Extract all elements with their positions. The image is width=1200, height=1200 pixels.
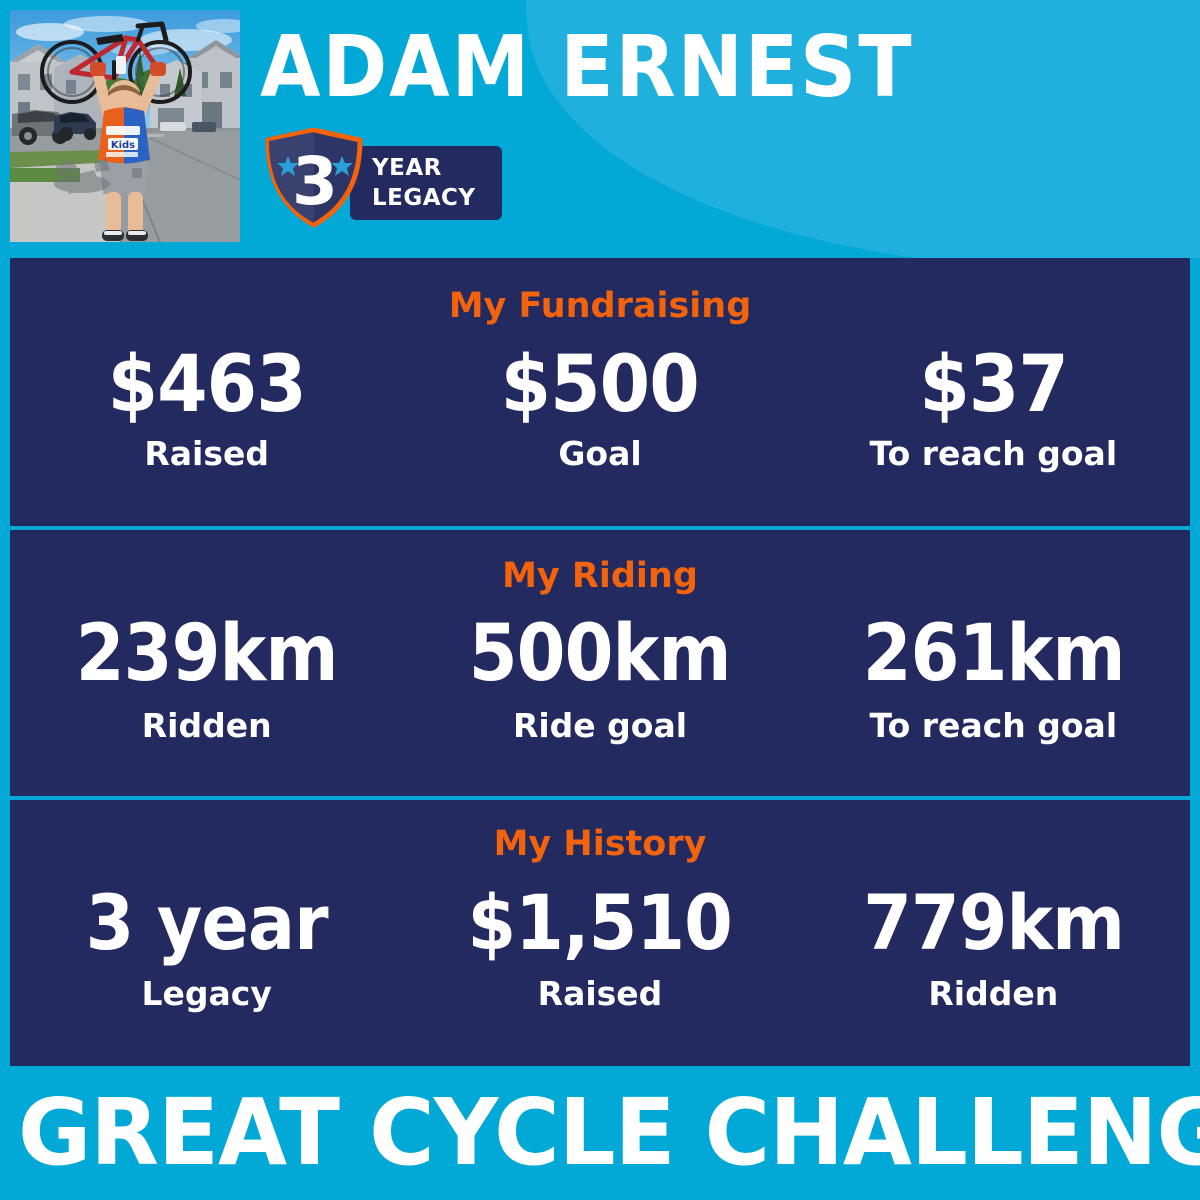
stat-to-reach-goal-money: $37 To reach goal [797,342,1190,474]
poster-footer: GREAT CYCLE CHALLENGE [0,1066,1200,1200]
great-cycle-challenge-wordmark: GREAT CYCLE CHALLENGE [18,1080,1182,1186]
stat-value-total-ridden: 779km [812,880,1174,966]
fundraising-poster: Kids [0,0,1200,1200]
stat-label-ride-goal: Ride goal [403,706,796,746]
legacy-years-number: 3 [292,143,338,220]
stat-row-history: 3 year Legacy $1,510 Raised 779km Ridden [10,880,1190,1014]
stat-value-raised: $463 [24,342,390,428]
stat-label-to-reach-goal-distance: To reach goal [797,706,1190,746]
stat-label-ridden: Ridden [10,706,403,746]
stat-value-total-raised: $1,510 [419,880,781,966]
legacy-badge-text: YEAR LEGACY [372,153,476,213]
shield-icon: 3 [262,128,366,228]
stat-legacy: 3 year Legacy [10,880,403,1014]
stat-value-to-reach-goal-money: $37 [810,342,1176,428]
stat-ride-goal: 500km Ride goal [403,610,796,746]
rider-photo-illustration: Kids [10,10,240,242]
stat-total-ridden: 779km Ridden [797,880,1190,1014]
rider-name: ADAM ERNEST [260,16,1106,120]
legacy-badge-line1: YEAR [372,155,442,181]
stat-goal: $500 Goal [403,342,796,474]
legacy-badge-plate: YEAR LEGACY [350,146,502,220]
stat-to-reach-goal-distance: 261km To reach goal [797,610,1190,746]
section-heading-history: My History [10,800,1190,864]
stat-label-goal: Goal [403,434,796,474]
stat-label-total-raised: Raised [403,974,796,1014]
svg-text:Kids: Kids [111,140,135,151]
stat-ridden: 239km Ridden [10,610,403,746]
section-heading-fundraising: My Fundraising [10,258,1190,326]
section-history: My History 3 year Legacy $1,510 Raised 7… [10,796,1190,1062]
stat-label-legacy: Legacy [10,974,403,1014]
stat-value-to-reach-goal-distance: 261km [816,610,1170,698]
stat-label-to-reach-goal-money: To reach goal [797,434,1190,474]
stat-total-raised: $1,510 Raised [403,880,796,1014]
section-riding: My Riding 239km Ridden 500km Ride goal 2… [10,526,1190,796]
rider-photo: Kids [10,10,240,242]
legacy-badge-line2: LEGACY [372,183,476,213]
stat-row-riding: 239km Ridden 500km Ride goal 261km To re… [10,610,1190,746]
stat-row-fundraising: $463 Raised $500 Goal $37 To reach goal [10,342,1190,474]
section-heading-riding: My Riding [10,530,1190,596]
stat-value-ride-goal: 500km [423,610,777,698]
stat-value-legacy: 3 year [26,880,388,966]
poster-header: Kids [0,0,1200,258]
stat-value-goal: $500 [417,342,783,428]
section-fundraising: My Fundraising $463 Raised $500 Goal $37… [10,258,1190,526]
stats-panel: My Fundraising $463 Raised $500 Goal $37… [10,258,1190,1066]
stat-raised: $463 Raised [10,342,403,474]
stat-label-raised: Raised [10,434,403,474]
legacy-badge: YEAR LEGACY 3 [262,128,502,228]
stat-label-total-ridden: Ridden [797,974,1190,1014]
stat-value-ridden: 239km [30,610,384,698]
